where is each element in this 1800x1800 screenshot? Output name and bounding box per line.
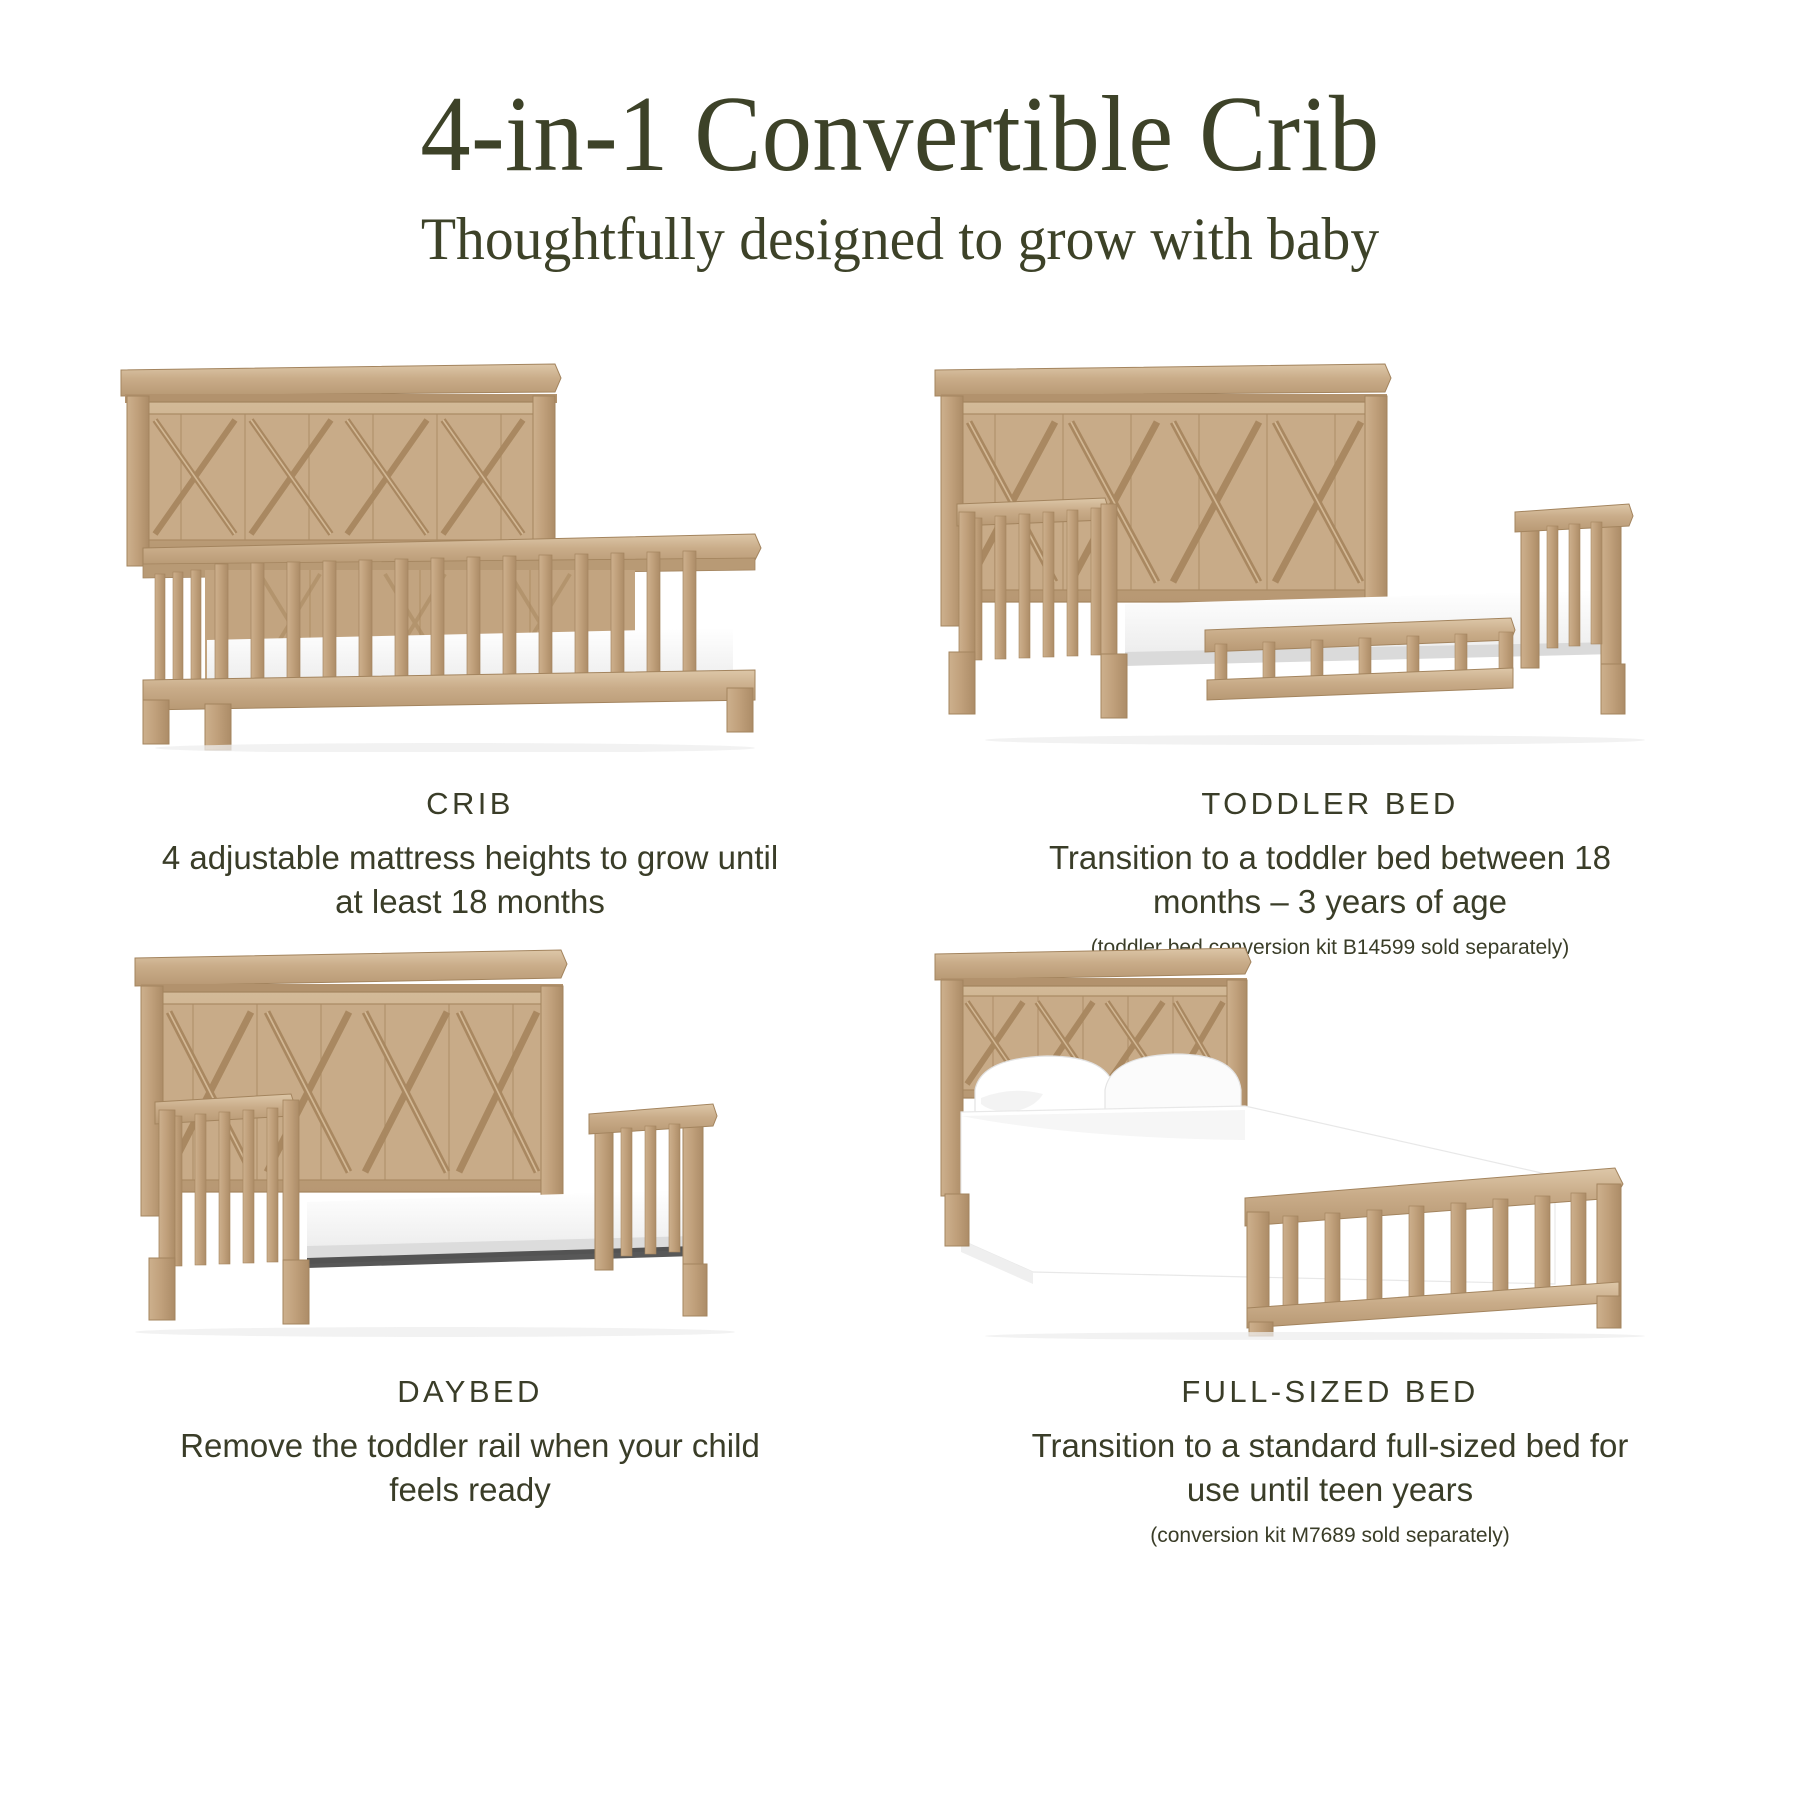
crib-image-wrap <box>55 352 885 752</box>
panel-title-full-sized-bed: FULL-SIZED BED <box>915 1374 1745 1410</box>
panel-toddler-bed: TODDLER BED Transition to a toddler bed … <box>915 352 1745 962</box>
crib-illustration <box>55 352 885 752</box>
panel-body-full-sized-bed: Transition to a standard full-sized bed … <box>1010 1424 1650 1512</box>
panel-title-toddler-bed: TODDLER BED <box>915 786 1745 822</box>
panel-body-daybed: Remove the toddler rail when your child … <box>150 1424 790 1512</box>
daybed-illustration <box>55 940 885 1340</box>
full-sized-bed-illustration <box>915 940 1745 1340</box>
panel-title-daybed: DAYBED <box>55 1374 885 1410</box>
page-subtitle: Thoughtfully designed to grow with baby <box>36 206 1764 272</box>
header: 4-in-1 Convertible Crib Thoughtfully des… <box>0 78 1800 272</box>
feature-grid: CRIB 4 adjustable mattress heights to gr… <box>0 352 1800 1792</box>
page-title: 4-in-1 Convertible Crib <box>63 78 1737 192</box>
daybed-image-wrap <box>55 940 885 1340</box>
panel-daybed: DAYBED Remove the toddler rail when your… <box>55 940 885 1512</box>
panel-fineprint-full-sized-bed: (conversion kit M7689 sold separately) <box>960 1522 1700 1550</box>
panel-full-sized-bed: FULL-SIZED BED Transition to a standard … <box>915 940 1745 1550</box>
panel-body-crib: 4 adjustable mattress heights to grow un… <box>150 836 790 924</box>
toddler-bed-illustration <box>915 352 1745 752</box>
panel-title-crib: CRIB <box>55 786 885 822</box>
panel-body-toddler-bed: Transition to a toddler bed between 18 m… <box>1010 836 1650 924</box>
panel-crib: CRIB 4 adjustable mattress heights to gr… <box>55 352 885 924</box>
full-sized-bed-image-wrap <box>915 940 1745 1340</box>
toddler-bed-image-wrap <box>915 352 1745 752</box>
infographic-page: 4-in-1 Convertible Crib Thoughtfully des… <box>0 0 1800 1800</box>
